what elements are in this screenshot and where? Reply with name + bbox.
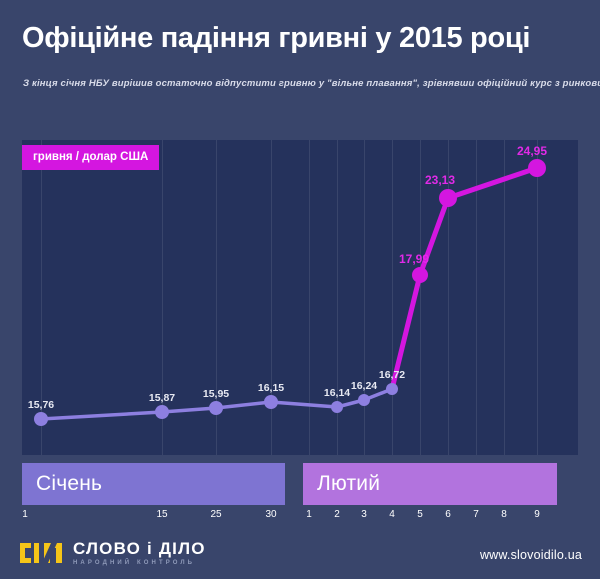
chart-line-series [22, 140, 578, 455]
page-subtitle: З кінця січня НБУ вирішив остаточно відп… [23, 78, 585, 89]
x-tick-4: 1 [306, 509, 312, 520]
x-tick-1: 15 [156, 509, 167, 520]
data-point-label-3: 16,15 [258, 382, 284, 394]
data-point-label-6: 16,72 [379, 369, 405, 381]
data-point-label-2: 15,95 [203, 388, 229, 400]
data-point-0 [34, 412, 48, 426]
data-point-8 [439, 189, 457, 207]
data-point-5 [358, 394, 370, 406]
data-point-label-8: 23,13 [425, 173, 455, 187]
page-title: Офіційне падіння гривні у 2015 році [22, 22, 582, 55]
x-tick-7: 4 [389, 509, 395, 520]
month-bands: СіченьЛютий [22, 463, 578, 505]
footer: СЛОВО і ДІЛО НАРОДНИЙ КОНТРОЛЬ www.slovo… [0, 534, 600, 579]
logo-text: СЛОВО і ДІЛО НАРОДНИЙ КОНТРОЛЬ [73, 540, 206, 566]
data-point-3 [264, 395, 278, 409]
x-axis-tick-labels: 1152530123456789 [22, 509, 578, 525]
x-tick-9: 6 [445, 509, 451, 520]
x-tick-3: 30 [265, 509, 276, 520]
data-point-9 [528, 159, 546, 177]
data-point-2 [209, 401, 223, 415]
month-label: Лютий [303, 472, 380, 496]
data-point-label-9: 24,95 [517, 144, 547, 158]
line-segment [216, 402, 271, 408]
logo-tagline: НАРОДНИЙ КОНТРОЛЬ [73, 560, 206, 566]
x-tick-5: 2 [334, 509, 340, 520]
month-label: Січень [22, 472, 102, 496]
data-point-label-5: 16,24 [351, 380, 377, 392]
x-tick-6: 3 [361, 509, 367, 520]
x-tick-8: 5 [417, 509, 423, 520]
data-point-1 [155, 405, 169, 419]
data-point-label-4: 16,14 [324, 387, 350, 399]
data-point-label-1: 15,87 [149, 392, 175, 404]
data-point-label-0: 15,76 [28, 399, 54, 411]
line-segment [162, 408, 216, 412]
data-point-4 [331, 401, 343, 413]
x-tick-2: 25 [210, 509, 221, 520]
x-tick-11: 8 [501, 509, 507, 520]
infographic-root: Офіційне падіння гривні у 2015 році З кі… [0, 0, 600, 579]
brand-logo[interactable]: СЛОВО і ДІЛО НАРОДНИЙ КОНТРОЛЬ [18, 540, 206, 566]
x-tick-0: 1 [22, 509, 28, 520]
month-band-february: Лютий [303, 463, 557, 505]
logo-main-text: СЛОВО і ДІЛО [73, 540, 206, 557]
site-url[interactable]: www.slovoidilo.ua [480, 548, 582, 562]
x-tick-12: 9 [534, 509, 540, 520]
data-point-7 [412, 267, 428, 283]
legend-badge: гривня / долар США [22, 145, 159, 170]
x-tick-10: 7 [473, 509, 479, 520]
chart-plot-area: 15,7615,8715,9516,1516,1416,2416,7217,99… [22, 140, 578, 455]
logo-mark-icon [18, 541, 64, 565]
data-point-6 [386, 383, 398, 395]
line-segment [41, 412, 162, 419]
header: Офіційне падіння гривні у 2015 році З кі… [0, 0, 600, 104]
month-band-january: Січень [22, 463, 285, 505]
line-segment [271, 402, 337, 407]
line-segment [448, 168, 537, 198]
data-point-label-7: 17,99 [399, 252, 429, 266]
